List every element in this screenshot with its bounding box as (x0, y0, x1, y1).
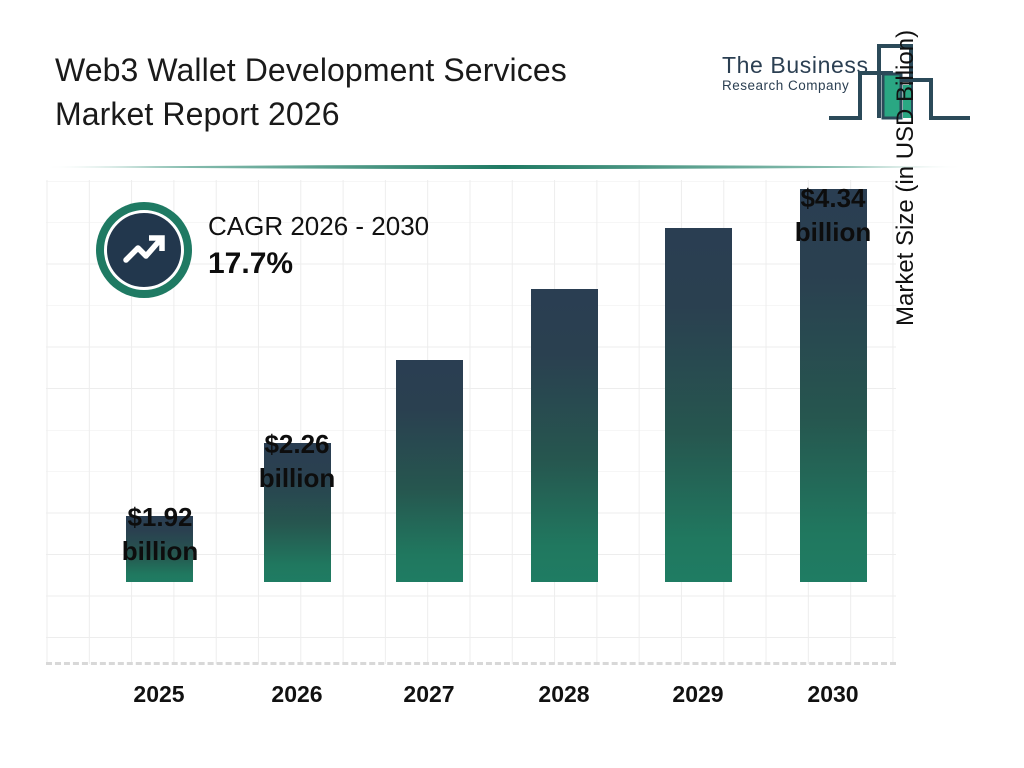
bar-chart: $1.92 billion $2.26 billion $4.34 billio… (0, 166, 1024, 768)
trending-up-icon (104, 210, 184, 290)
value-label-2026: $2.26 billion (236, 427, 358, 495)
x-axis: 2025 2026 2027 2028 2029 2030 (0, 678, 1024, 728)
page-title-line-1: Web3 Wallet Development Services (55, 48, 715, 92)
value-label-2025-unit: billion (99, 534, 221, 568)
page-title: Web3 Wallet Development Services Market … (55, 48, 715, 136)
header: Web3 Wallet Development Services Market … (0, 0, 1024, 160)
cagr-text-group: CAGR 2026 - 2030 17.7% (208, 208, 498, 284)
company-logo: The Business Research Company (722, 38, 972, 126)
chart-page: Web3 Wallet Development Services Market … (0, 0, 1024, 768)
bar-2029[interactable] (665, 228, 732, 582)
x-tick-2027: 2027 (369, 678, 489, 710)
cagr-value: 17.7% (208, 244, 498, 284)
value-label-2025: $1.92 billion (99, 500, 221, 568)
x-tick-2026: 2026 (237, 678, 357, 710)
x-tick-2025: 2025 (99, 678, 219, 710)
value-label-2026-unit: billion (236, 461, 358, 495)
cagr-circle (96, 202, 192, 298)
bar-2028[interactable] (531, 289, 598, 582)
value-label-2030-amount: $4.34 (772, 181, 894, 215)
y-axis-title: Market Size (in USD Billion) (886, 0, 926, 326)
value-label-2025-amount: $1.92 (99, 500, 221, 534)
x-tick-2028: 2028 (504, 678, 624, 710)
page-title-line-2: Market Report 2026 (55, 92, 715, 136)
x-tick-2030: 2030 (773, 678, 893, 710)
bar-2027[interactable] (396, 360, 463, 582)
cagr-label: CAGR 2026 - 2030 (208, 208, 498, 244)
header-divider (45, 158, 963, 166)
x-tick-2029: 2029 (638, 678, 758, 710)
cagr-badge: CAGR 2026 - 2030 17.7% (96, 202, 496, 312)
value-label-2030-unit: billion (772, 215, 894, 249)
value-label-2030: $4.34 billion (772, 181, 894, 249)
value-label-2026-amount: $2.26 (236, 427, 358, 461)
